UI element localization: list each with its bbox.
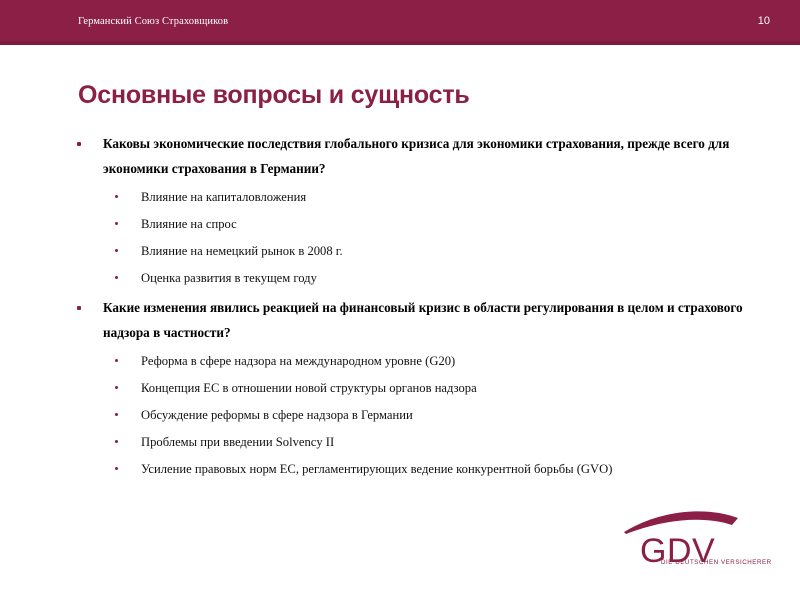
list-item-label: Влияние на капиталовложения (141, 184, 780, 211)
dot-bullet-icon (115, 359, 118, 362)
bullet-list-level1: Каковы экономические последствия глобаль… (70, 132, 780, 483)
list-item: Влияние на капиталовложения (103, 184, 780, 211)
bullet-item-label: Каковы экономические последствия глобаль… (103, 132, 780, 181)
dot-bullet-icon (115, 195, 118, 198)
dot-bullet-icon (115, 467, 118, 470)
list-item-label: Реформа в сфере надзора на международном… (141, 348, 780, 375)
list-item: Проблемы при введении Solvency II (103, 429, 780, 456)
list-item: Обсуждение реформы в сфере надзора в Гер… (103, 402, 780, 429)
list-item-label: Влияние на спрос (141, 211, 780, 238)
list-item-label: Усиление правовых норм ЕС, регламентирую… (141, 456, 780, 483)
dot-bullet-icon (115, 440, 118, 443)
bullet-item-label: Какие изменения явились реакцией на фина… (103, 296, 780, 345)
logo-tagline: DIE DEUTSCHEN VERSICHERER (661, 559, 781, 567)
page-number: 10 (758, 14, 770, 28)
dot-bullet-icon (115, 222, 118, 225)
slide: Германский Союз Страховщиков 10 Основные… (0, 0, 800, 600)
list-item-label: Влияние на немецкий рынок в 2008 г. (141, 238, 780, 265)
bullet-item-question-1: Каковы экономические последствия глобаль… (70, 132, 780, 292)
dot-bullet-icon (115, 249, 118, 252)
list-item: Влияние на немецкий рынок в 2008 г. (103, 238, 780, 265)
header-band-rule (0, 41, 800, 45)
list-item: Концепция ЕС в отношении новой структуры… (103, 375, 780, 402)
list-item: Влияние на спрос (103, 211, 780, 238)
bullet-item-question-2: Какие изменения явились реакцией на фина… (70, 296, 780, 483)
bullet-list-level2-block-1: Влияние на капиталовложения Влияние на с… (103, 184, 780, 292)
slide-header-band: Германский Союз Страховщиков 10 (0, 0, 800, 45)
list-item-label: Концепция ЕС в отношении новой структуры… (141, 375, 780, 402)
list-item-label: Проблемы при введении Solvency II (141, 429, 780, 456)
list-item-label: Обсуждение реформы в сфере надзора в Гер… (141, 402, 780, 429)
slide-body: Каковы экономические последствия глобаль… (70, 132, 780, 487)
header-organization-label: Германский Союз Страховщиков (78, 15, 228, 28)
page-title: Основные вопросы и сущность (78, 80, 738, 110)
gdv-logo: GDV DIE DEUTSCHEN VERSICHERER (620, 508, 770, 588)
list-item: Оценка развития в текущем году (103, 265, 780, 292)
dot-bullet-icon (115, 386, 118, 389)
square-bullet-icon (77, 142, 81, 146)
list-item-label: Оценка развития в текущем году (141, 265, 780, 292)
square-bullet-icon (77, 306, 81, 310)
list-item: Усиление правовых норм ЕС, регламентирую… (103, 456, 780, 483)
bullet-list-level2-block-2: Реформа в сфере надзора на международном… (103, 348, 780, 483)
dot-bullet-icon (115, 276, 118, 279)
dot-bullet-icon (115, 413, 118, 416)
list-item: Реформа в сфере надзора на международном… (103, 348, 780, 375)
